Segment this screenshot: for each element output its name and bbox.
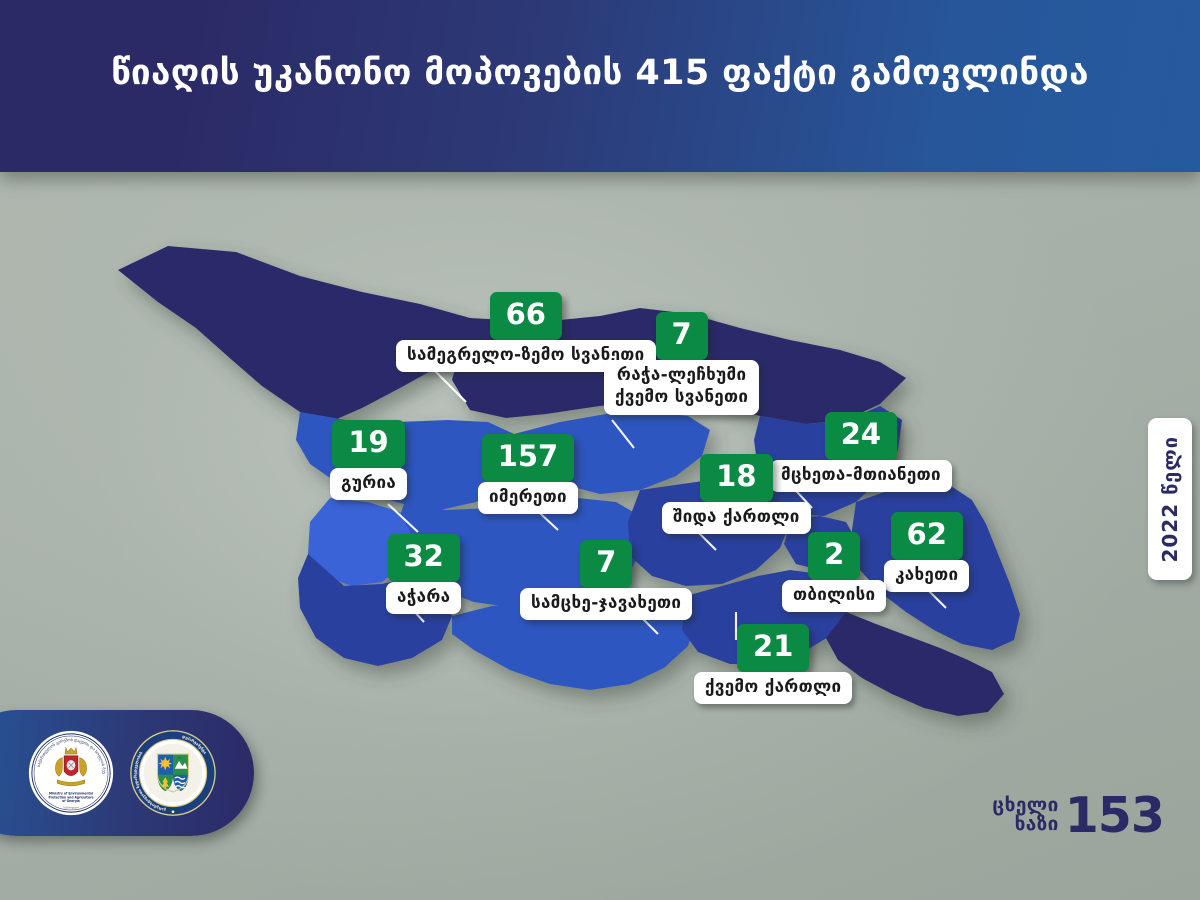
region-marker-imereti[interactable]: 157 იმერეთი bbox=[478, 434, 578, 514]
region-label-kakheti: კახეთი bbox=[884, 560, 969, 592]
region-value-shida-kartli: 18 bbox=[700, 454, 772, 502]
region-label-guria: გურია bbox=[330, 468, 407, 500]
region-value-samtskhe-javakheti: 7 bbox=[580, 540, 632, 588]
hotline-label-line2: ხაზი bbox=[1015, 813, 1059, 835]
region-value-racha-lechkhumi: 7 bbox=[656, 312, 708, 360]
region-marker-shida-kartli[interactable]: 18 შიდა ქართლი bbox=[662, 454, 811, 534]
region-label-samtskhe-javakheti: სამცხე-ჯავახეთი bbox=[520, 588, 692, 620]
region-value-tbilisi: 2 bbox=[808, 532, 860, 580]
region-value-mtskheta-mtianeti: 24 bbox=[825, 412, 897, 460]
region-value-kakheti: 62 bbox=[891, 512, 963, 560]
svg-text:საქართველო: საქართველო bbox=[63, 806, 79, 809]
logo-pill: საქართველოს გარემოს დაცვისა და სოფლის მე… bbox=[0, 710, 254, 836]
region-marker-racha-lechkhumi[interactable]: 7 რაჭა-ლეჩხუმიქვემო სვანეთი bbox=[604, 312, 759, 415]
ministry-of-environment-logo-icon: საქართველოს გარემოს დაცვისა და სოფლის მე… bbox=[28, 730, 114, 816]
region-label-kvemo-kartli: ქვემო ქართლი bbox=[694, 672, 852, 704]
region-marker-kvemo-kartli[interactable]: 21 ქვემო ქართლი bbox=[694, 624, 852, 704]
region-label-imereti: იმერეთი bbox=[478, 482, 578, 514]
region-value-kvemo-kartli: 21 bbox=[737, 624, 809, 672]
hotline-label: ცხელი ხაზი bbox=[992, 796, 1058, 836]
region-value-adjara: 32 bbox=[388, 534, 460, 582]
page-title: წიაღის უკანონო მოპოვების 415 ფაქტი გამოვ… bbox=[111, 53, 1089, 93]
region-label-shida-kartli: შიდა ქართლი bbox=[662, 502, 811, 534]
svg-text:of Georgia: of Georgia bbox=[62, 799, 80, 803]
region-label-racha-lechkhumi: რაჭა-ლეჩხუმიქვემო სვანეთი bbox=[604, 360, 759, 415]
region-marker-guria[interactable]: 19 გურია bbox=[330, 420, 407, 500]
region-label-adjara: აჭარა bbox=[386, 582, 461, 614]
region-marker-kakheti[interactable]: 62 კახეთი bbox=[884, 512, 969, 592]
year-label: 2022 წელი bbox=[1158, 436, 1182, 563]
hotline-number: 153 bbox=[1065, 793, 1164, 838]
environmental-supervision-department-logo-icon: გარემოსდაცვითი ზედამხედველობის დეპარტამე… bbox=[130, 730, 216, 816]
region-marker-adjara[interactable]: 32 აჭარა bbox=[386, 534, 461, 614]
region-label-tbilisi: თბილისი bbox=[782, 580, 886, 612]
year-tab: 2022 წელი bbox=[1148, 418, 1192, 580]
region-value-samegrelo-zemo-svaneti: 66 bbox=[490, 292, 562, 340]
header-banner: წიაღის უკანონო მოპოვების 415 ფაქტი გამოვ… bbox=[0, 0, 1200, 172]
region-marker-tbilisi[interactable]: 2 თბილისი bbox=[782, 532, 886, 612]
region-value-guria: 19 bbox=[332, 420, 404, 468]
hotline-label-line1: ცხელი bbox=[992, 794, 1058, 816]
region-value-imereti: 157 bbox=[482, 434, 575, 482]
region-marker-samtskhe-javakheti[interactable]: 7 სამცხე-ჯავახეთი bbox=[520, 540, 692, 620]
hotline-block: ცხელი ხაზი 153 bbox=[992, 793, 1164, 838]
